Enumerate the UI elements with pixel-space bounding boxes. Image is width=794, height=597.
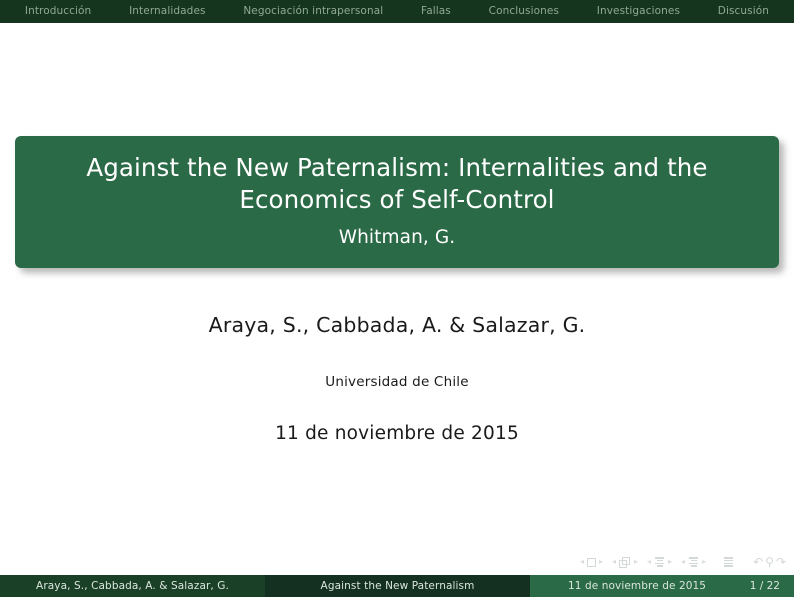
presentation-title: Against the New Paternalism: Internaliti… — [41, 152, 753, 217]
nav-section-discusion[interactable]: Discusión — [714, 0, 773, 23]
previous-section-arrow-icon[interactable]: ◂ — [681, 558, 685, 566]
title-block: Against the New Paternalism: Internaliti… — [15, 136, 779, 268]
nav-section-internalidades[interactable]: Internalidades — [125, 0, 209, 23]
nav-section-investigaciones[interactable]: Investigaciones — [593, 0, 684, 23]
nav-section-fallas[interactable]: Fallas — [417, 0, 455, 23]
slide-navigation-group: ◂ ▸ — [580, 558, 603, 567]
footer-short-title: Against the New Paternalism — [265, 575, 530, 597]
section-lines-icon[interactable] — [688, 557, 699, 568]
next-section-arrow-icon[interactable]: ▸ — [702, 558, 706, 566]
author-names: Araya, S., Cabbada, A. & Salazar, G. — [0, 313, 794, 337]
document-tools-group: ↶ ⚲ ↷ — [753, 556, 786, 568]
previous-subsection-arrow-icon[interactable]: ◂ — [647, 558, 651, 566]
presentation-subtitle: Whitman, G. — [41, 227, 753, 248]
document-lines-icon[interactable] — [723, 557, 734, 568]
previous-slide-arrow-icon[interactable]: ◂ — [580, 558, 584, 566]
frame-squares-icon[interactable] — [619, 557, 631, 568]
subsection-navigation-group: ◂ ▸ — [647, 557, 672, 568]
search-icon[interactable]: ⚲ — [765, 556, 774, 568]
next-subsection-arrow-icon[interactable]: ▸ — [668, 558, 672, 566]
nav-section-introduccion[interactable]: Introducción — [21, 0, 95, 23]
section-navigation-bar: Introducción Internalidades Negociación … — [0, 0, 794, 23]
footer-author: Araya, S., Cabbada, A. & Salazar, G. — [0, 575, 265, 597]
beamer-navigation-symbols: ◂ ▸ ◂ ▸ ◂ ▸ ◂ ▸ ↶ ⚲ ↷ — [580, 551, 786, 573]
forward-arrow-icon[interactable]: ↷ — [776, 556, 786, 568]
presentation-date: 11 de noviembre de 2015 — [0, 423, 794, 444]
previous-frame-arrow-icon[interactable]: ◂ — [612, 558, 616, 566]
next-slide-arrow-icon[interactable]: ▸ — [599, 558, 603, 566]
frame-navigation-group: ◂ ▸ — [612, 557, 638, 568]
back-arrow-icon[interactable]: ↶ — [753, 556, 763, 568]
footer-page-number: 1 / 22 — [750, 575, 780, 597]
institute-name: Universidad de Chile — [0, 374, 794, 390]
section-navigation-group: ◂ ▸ — [681, 557, 706, 568]
footline-bar: Araya, S., Cabbada, A. & Salazar, G. Aga… — [0, 575, 794, 597]
subsection-lines-icon[interactable] — [654, 557, 665, 568]
slide-square-icon[interactable] — [587, 558, 596, 567]
nav-section-negociacion-intrapersonal[interactable]: Negociación intrapersonal — [239, 0, 387, 23]
next-frame-arrow-icon[interactable]: ▸ — [634, 558, 638, 566]
nav-section-conclusiones[interactable]: Conclusiones — [485, 0, 563, 23]
